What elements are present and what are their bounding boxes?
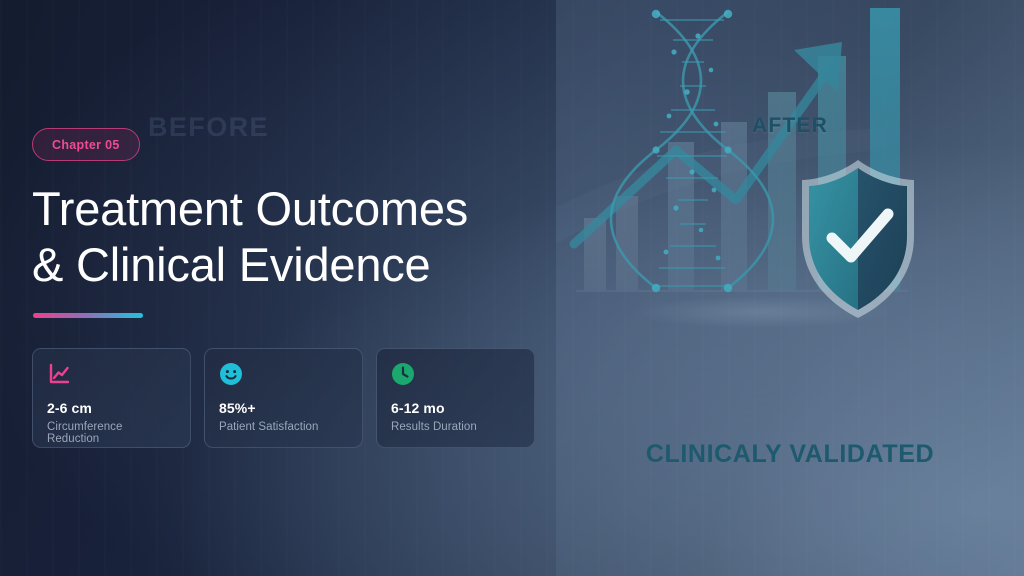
headline-line-2: & Clinical Evidence bbox=[32, 238, 431, 291]
stat-card-results-duration: 6-12 mo Results Duration bbox=[376, 348, 535, 448]
stat-value: 6-12 mo bbox=[391, 400, 520, 416]
headline-line-1: Treatment Outcomes bbox=[32, 182, 468, 235]
stat-label: Results Duration bbox=[391, 421, 520, 433]
after-label: AFTER bbox=[556, 114, 1024, 138]
stat-value: 2-6 cm bbox=[47, 400, 176, 416]
slide-root: AFTER CLINICALY VALIDATED BEFORE Chapter… bbox=[0, 0, 1024, 576]
content-column: Chapter 05 Treatment Outcomes & Clinical… bbox=[32, 0, 552, 576]
stat-value: 85%+ bbox=[219, 400, 348, 416]
illustration-panel: AFTER CLINICALY VALIDATED bbox=[556, 0, 1024, 576]
stat-card-group: 2-6 cm Circumference Reduction 85%+ Pati… bbox=[32, 348, 535, 448]
smiley-face-icon bbox=[219, 362, 243, 386]
chapter-badge: Chapter 05 bbox=[32, 128, 140, 161]
clinically-validated-label: CLINICALY VALIDATED bbox=[556, 440, 1024, 469]
illustration-color-wash bbox=[556, 0, 1024, 576]
stat-card-patient-satisfaction: 85%+ Patient Satisfaction bbox=[204, 348, 363, 448]
accent-underline bbox=[33, 313, 143, 318]
page-title: Treatment Outcomes & Clinical Evidence bbox=[32, 181, 532, 293]
stat-card-circumference-reduction: 2-6 cm Circumference Reduction bbox=[32, 348, 191, 448]
clock-icon bbox=[391, 362, 415, 386]
stat-label: Circumference Reduction bbox=[47, 421, 176, 445]
line-chart-icon bbox=[47, 362, 71, 386]
stat-label: Patient Satisfaction bbox=[219, 421, 348, 433]
